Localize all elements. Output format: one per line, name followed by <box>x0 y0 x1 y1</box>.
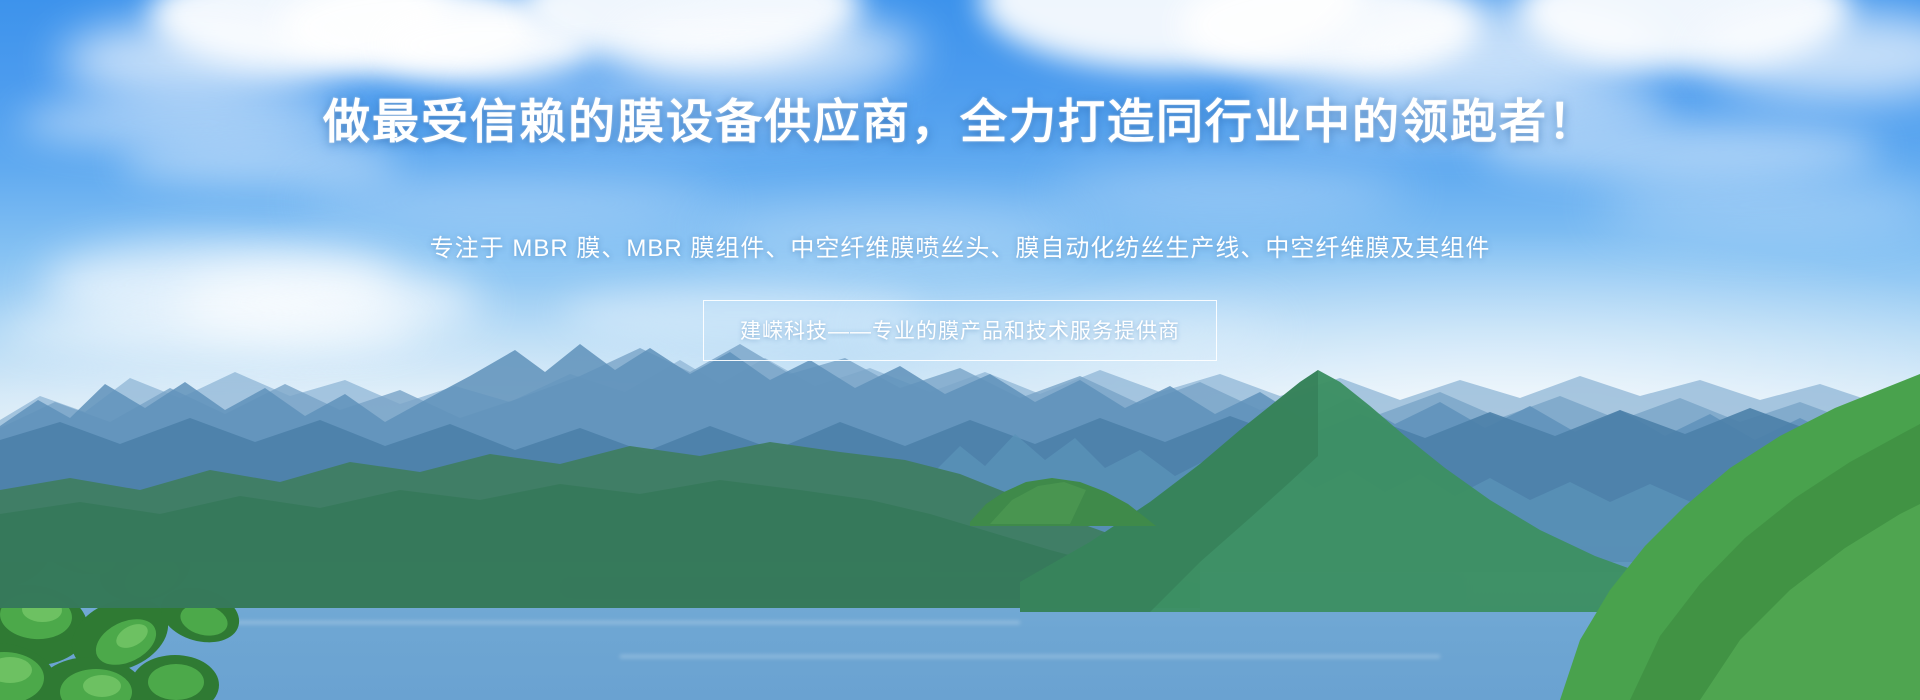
tagline-container: 建嵘科技——专业的膜产品和技术服务提供商 <box>0 300 1920 361</box>
hero-banner: 做最受信赖的膜设备供应商，全力打造同行业中的领跑者！ 专注于 MBR 膜、MBR… <box>0 0 1920 700</box>
text-overlay: 做最受信赖的膜设备供应商，全力打造同行业中的领跑者！ 专注于 MBR 膜、MBR… <box>0 0 1920 700</box>
banner-headline: 做最受信赖的膜设备供应商，全力打造同行业中的领跑者！ <box>0 97 1920 150</box>
banner-subheadline: 专注于 MBR 膜、MBR 膜组件、中空纤维膜喷丝头、膜自动化纺丝生产线、中空纤… <box>0 228 1920 263</box>
tagline-box: 建嵘科技——专业的膜产品和技术服务提供商 <box>703 300 1217 361</box>
